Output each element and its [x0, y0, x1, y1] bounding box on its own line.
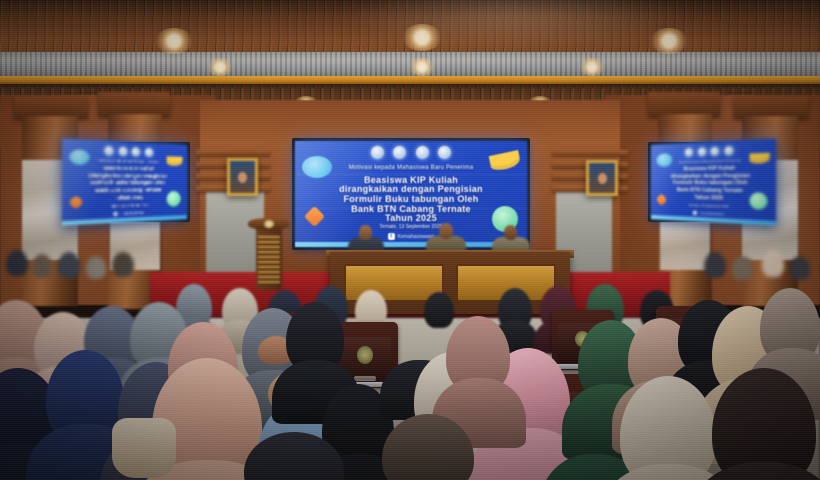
- hijab: [6, 250, 28, 276]
- hijab: [86, 256, 106, 279]
- slide-intro-line: Motivasi kepada Mahasiswa Baru Penerima: [295, 165, 527, 172]
- institution-logo-icon: [698, 148, 706, 157]
- institution-logo-icon: [416, 146, 429, 159]
- portrait-figure: [598, 173, 607, 184]
- institution-logo-icon: [393, 146, 406, 159]
- panelist-head: [359, 225, 372, 240]
- facebook-icon: f: [114, 211, 118, 216]
- downlight: [207, 58, 233, 76]
- framed-portrait-right: [586, 160, 618, 196]
- institution-logo-icon: [145, 148, 153, 157]
- downlight: [650, 28, 688, 54]
- chair-brand-label: [354, 376, 376, 381]
- hijab: [790, 256, 810, 280]
- lectern-carving: [258, 236, 280, 284]
- hijab: [732, 256, 753, 280]
- hijab: [58, 252, 80, 278]
- institution-logo-icon: [711, 147, 720, 156]
- slide-left: Motivasi kepada Mahasiswa Baru Penerima …: [62, 138, 187, 225]
- lectern-crest-icon: [264, 220, 274, 228]
- downlight: [155, 28, 193, 54]
- hijab: [704, 252, 726, 278]
- slide-title-5: Tahun 2025: [295, 213, 527, 223]
- slide-title-5: Tahun 2025: [651, 195, 776, 204]
- institution-logo-icon: [438, 146, 451, 159]
- column-capital-left: [14, 96, 88, 118]
- panelist-head: [439, 223, 453, 239]
- ceiling-beam-gold: [0, 76, 820, 84]
- institution-logo-icon: [725, 146, 734, 155]
- chair-crest-icon: [357, 346, 373, 364]
- facebook-icon: f: [388, 233, 395, 240]
- column-capital-left-inner: [98, 92, 170, 116]
- slide-right: Motivasi kepada Mahasiswa Baru Penerima …: [651, 138, 776, 225]
- institution-logo-icon: [104, 146, 113, 155]
- downlight: [402, 24, 442, 51]
- column-capital-right: [734, 96, 808, 118]
- institution-logo-icon: [132, 148, 140, 157]
- screen-right: Motivasi kepada Mahasiswa Baru Penerima …: [651, 138, 776, 225]
- wall-slat: [552, 150, 628, 156]
- facebook-icon: f: [693, 210, 697, 214]
- handbag: [112, 418, 176, 478]
- institution-logo-icon: [119, 147, 128, 156]
- ceiling-sheen: [328, 0, 697, 50]
- institution-logo-icon: [685, 148, 693, 157]
- framed-portrait-left: [227, 158, 258, 196]
- downlight: [409, 58, 435, 76]
- slide-social-handle: Kemahasiswaan: [701, 211, 724, 216]
- hijab: [762, 250, 784, 277]
- slide-social-handle: Kemahasiswaan: [122, 210, 145, 215]
- auditorium-photo: Motivasi kepada Mahasiswa Baru Penerima …: [0, 0, 820, 480]
- hijab: [112, 252, 134, 277]
- wall-slat: [196, 150, 270, 156]
- portrait-figure: [238, 172, 247, 183]
- column-capital-right-inner: [648, 92, 720, 116]
- institution-logo-icon: [371, 146, 384, 159]
- panelist-head: [504, 225, 517, 240]
- hijab: [32, 254, 52, 278]
- screen-left: Motivasi kepada Mahasiswa Baru Penerima …: [62, 138, 187, 225]
- downlight: [579, 58, 605, 76]
